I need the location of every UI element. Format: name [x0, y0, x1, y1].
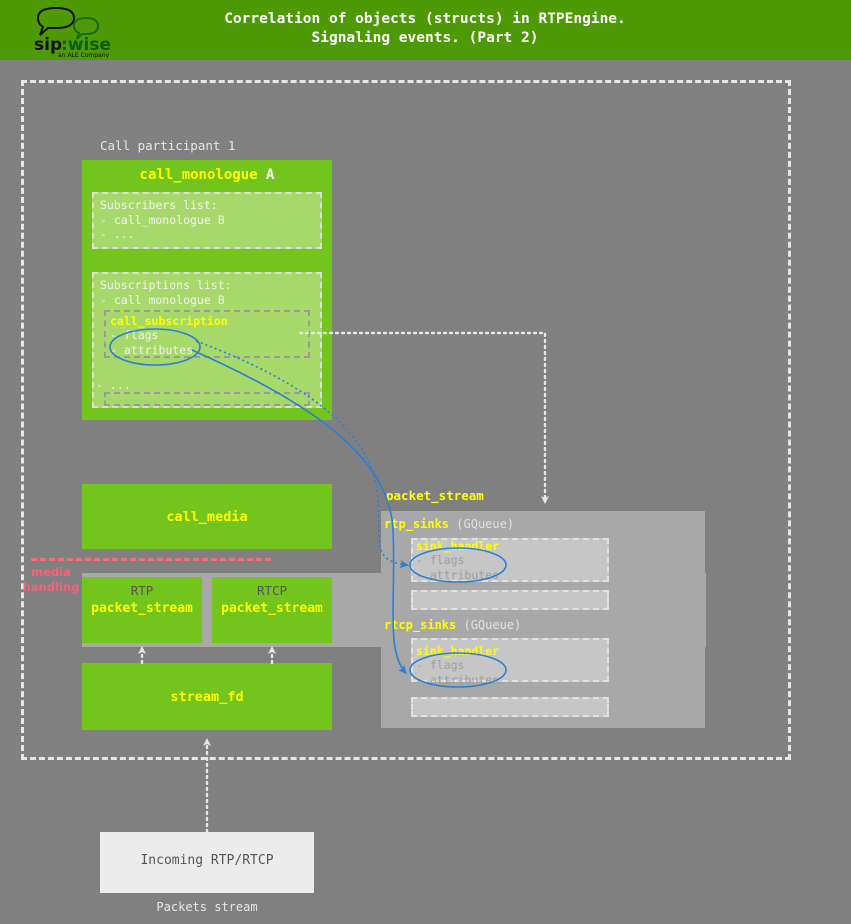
rtp-sinks-label: rtp_sinks (GQueue) — [384, 517, 514, 531]
page-title: Correlation of objects (structs) in RTPE… — [130, 10, 720, 48]
rtcp-sink-empty-slot — [411, 697, 609, 717]
rtcp-sink-handler-fields: - flags - attributes — [416, 658, 499, 687]
media-handling-divider — [31, 558, 271, 561]
rtcp-sinks-name: rtcp_sinks — [384, 618, 456, 632]
svg-text:an ALE Company: an ALE Company — [58, 52, 110, 58]
rtp-sink-empty-slot — [411, 590, 609, 610]
rtcp-sinks-type: (GQueue) — [463, 618, 521, 632]
call-monologue-instance: A — [266, 167, 274, 183]
rtcp-sink-handler-title: sink_handler — [416, 644, 499, 658]
rtp-sink-handler-fields: - flags - attributes — [416, 553, 499, 582]
subscriptions-more: - ... — [96, 378, 131, 392]
rtcp-packet-stream-box: RTCP packet_stream — [212, 577, 332, 643]
rtp-kind-label: RTP — [82, 583, 202, 598]
sipwise-logo: sip :wise an ALE Company — [30, 4, 130, 58]
call-monologue-title: call_monologue A — [82, 167, 332, 183]
rtp-sink-handler-title: sink_handler — [416, 539, 499, 553]
call-subscription-fields: - flags - attributes — [110, 328, 193, 357]
packet-stream-label: packet_stream — [386, 488, 484, 503]
packets-stream-caption: Packets stream — [100, 900, 314, 914]
call-monologue-struct-name: call_monologue — [140, 167, 258, 183]
call-participant-label: Call participant 1 — [100, 138, 235, 153]
page-header: sip :wise an ALE Company Correlation of … — [0, 0, 851, 60]
call-media-title: call_media — [82, 509, 332, 525]
rtcp-kind-label: RTCP — [212, 583, 332, 598]
incoming-packets-text: Incoming RTP/RTCP — [100, 853, 314, 868]
subscription-empty-slot — [104, 392, 310, 406]
stream-fd-title: stream_fd — [82, 689, 332, 705]
rtp-packet-stream-box: RTP packet_stream — [82, 577, 202, 643]
rtp-struct-label: packet_stream — [82, 601, 202, 616]
rtp-sinks-name: rtp_sinks — [384, 517, 449, 531]
rtcp-struct-label: packet_stream — [212, 601, 332, 616]
rtp-sinks-type: (GQueue) — [456, 517, 514, 531]
subscribers-list: Subscribers list: - call_monologue B - .… — [92, 192, 322, 249]
incoming-packets-box: Incoming RTP/RTCP — [100, 832, 314, 893]
media-handling-label: media handling — [22, 565, 80, 595]
call-subscription-title: call_subscription — [110, 314, 228, 328]
diagram-canvas: sip :wise an ALE Company Correlation of … — [0, 0, 851, 924]
rtcp-sinks-label: rtcp_sinks (GQueue) — [384, 618, 521, 632]
